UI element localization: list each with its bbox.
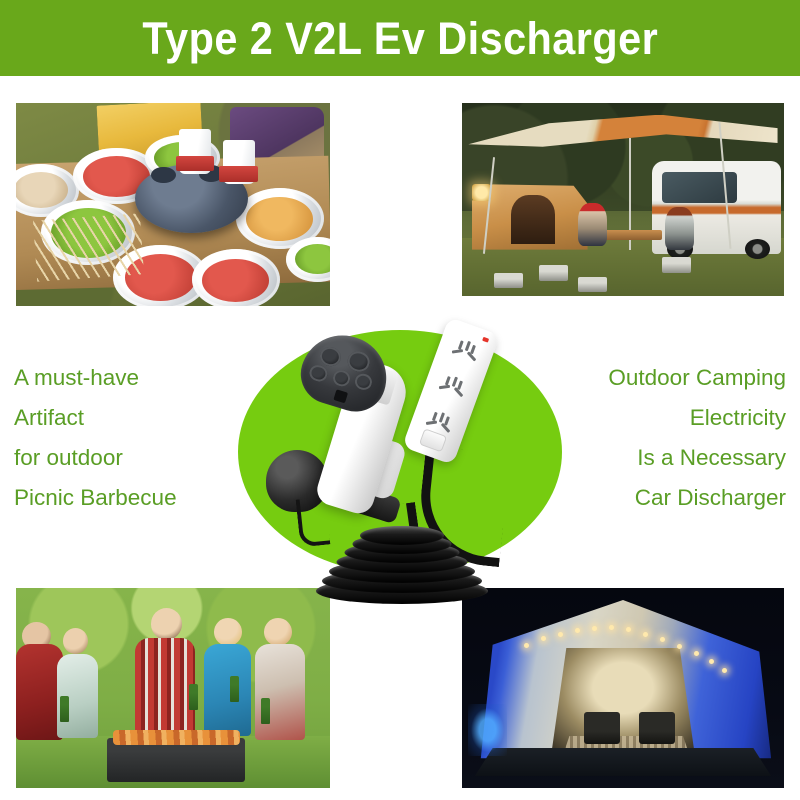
title-banner: Type 2 V2L Ev Discharger [0,0,800,76]
beer-bottle [189,684,198,710]
person-body [135,638,195,738]
person-head [214,618,242,646]
friends-grilling-photo [16,588,330,788]
page-title: Type 2 V2L Ev Discharger [142,16,658,61]
camp-stool [578,277,607,292]
power-indicator-led [482,337,489,343]
person-head [63,628,88,654]
camp-stool [662,257,691,272]
type-2-v2l-ev-discharger [238,310,562,590]
camper-person [665,207,694,249]
copy-line: Car Discharger [608,478,786,518]
person-body [255,644,305,740]
blue-light-glow [468,704,507,756]
drink-cup [179,129,210,174]
beer-bottle [60,696,69,722]
right-feature-copy: Outdoor Camping Electricity Is a Necessa… [608,358,786,518]
tent-groundsheet [475,748,771,776]
camper-person [578,203,607,245]
bbq-food-spread-photo [16,103,330,306]
campsite-van-awning-photo [462,103,784,296]
copy-line: Electricity [608,398,786,438]
drink-cup [223,140,254,185]
copy-line: for outdoor [14,438,177,478]
camp-stool [539,265,568,280]
left-feature-copy: A must-have Artifact for outdoor Picnic … [14,358,177,518]
copy-line: Picnic Barbecue [14,478,177,518]
camp-chair [639,712,674,744]
camp-stool [494,273,523,288]
beer-bottle [261,698,270,724]
beer-bottle [230,676,239,702]
copy-line: Artifact [14,398,177,438]
night-tent-lights-photo [462,588,784,788]
camp-chair [584,712,619,744]
power-socket [447,334,484,369]
barbecue-grill [107,738,245,782]
power-socket [434,370,471,405]
meat-skewers [33,213,144,281]
copy-line: Outdoor Camping [608,358,786,398]
copy-line: Is a Necessary [608,438,786,478]
copy-line: A must-have [14,358,177,398]
coiled-cable [316,520,488,604]
power-strip [402,317,500,465]
person-body [204,644,251,736]
food-plate [192,249,280,306]
